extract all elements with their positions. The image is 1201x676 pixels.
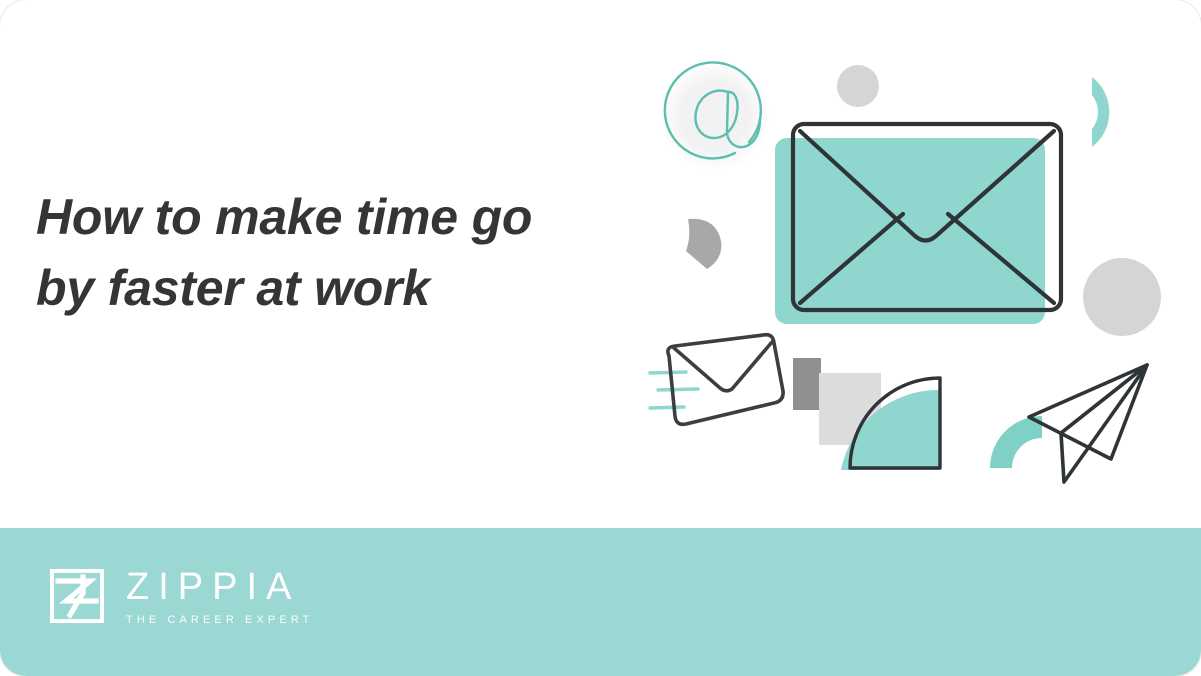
page-title: How to make time go by faster at work	[36, 182, 616, 324]
zippia-z-mark	[50, 569, 104, 623]
gray-circle-right	[1083, 258, 1161, 336]
teal-elbow-arc	[990, 416, 1042, 468]
teal-c-arc-top-right	[1092, 77, 1109, 147]
gray-wedge-shape	[686, 219, 721, 269]
zippia-logo[interactable]: ZIPPIA THE CAREER EXPERT	[50, 566, 313, 626]
gray-circle-top	[837, 65, 879, 107]
dark-gray-rectangle	[793, 358, 821, 410]
banner-card: How to make time go by faster at work	[0, 0, 1201, 676]
logo-tagline: THE CAREER EXPERT	[126, 615, 313, 626]
logo-wordmark: ZIPPIA	[126, 568, 313, 606]
small-envelope-icon	[650, 335, 783, 425]
paper-plane-icon	[1029, 365, 1147, 482]
email-communication-illustration	[620, 0, 1201, 528]
